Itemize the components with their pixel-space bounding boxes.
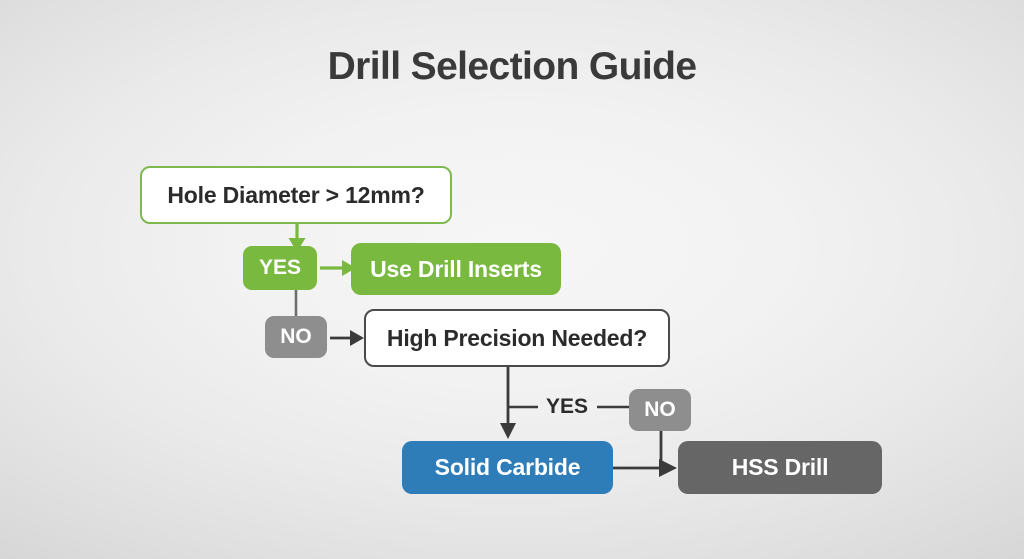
edge-label-yes-precision-text: YES xyxy=(546,395,588,419)
node-hole-diameter-label: Hole Diameter > 12mm? xyxy=(167,182,424,209)
edge-label-no-diameter-text: NO xyxy=(280,325,312,349)
connector-yes-to-no xyxy=(292,288,300,316)
node-high-precision-label: High Precision Needed? xyxy=(387,325,647,352)
connector-precision-yes-stub xyxy=(508,403,538,411)
node-hss-drill[interactable]: HSS Drill xyxy=(678,441,882,494)
node-hss-drill-label: HSS Drill xyxy=(732,454,829,481)
node-high-precision[interactable]: High Precision Needed? xyxy=(364,309,670,367)
node-use-drill-inserts[interactable]: Use Drill Inserts xyxy=(351,243,561,295)
edge-label-yes-precision: YES xyxy=(538,393,596,421)
page-title: Drill Selection Guide xyxy=(0,45,1024,89)
node-solid-carbide[interactable]: Solid Carbide xyxy=(402,441,613,494)
connector-yes-to-no-precision xyxy=(597,403,631,411)
edge-label-no-precision: NO xyxy=(629,389,691,431)
connector-no-to-precision xyxy=(330,327,366,349)
flowchart-canvas: Drill Selection Guide Ho xyxy=(0,0,1024,559)
edge-label-yes-diameter-text: YES xyxy=(259,256,301,280)
connector-solid-carbide-to-hss xyxy=(613,457,679,479)
node-solid-carbide-label: Solid Carbide xyxy=(435,454,581,481)
edge-label-no-diameter: NO xyxy=(265,316,327,358)
node-use-drill-inserts-label: Use Drill Inserts xyxy=(370,256,542,283)
edge-label-no-precision-text: NO xyxy=(644,398,676,422)
edge-label-yes-diameter: YES xyxy=(243,246,317,290)
node-hole-diameter[interactable]: Hole Diameter > 12mm? xyxy=(140,166,452,224)
